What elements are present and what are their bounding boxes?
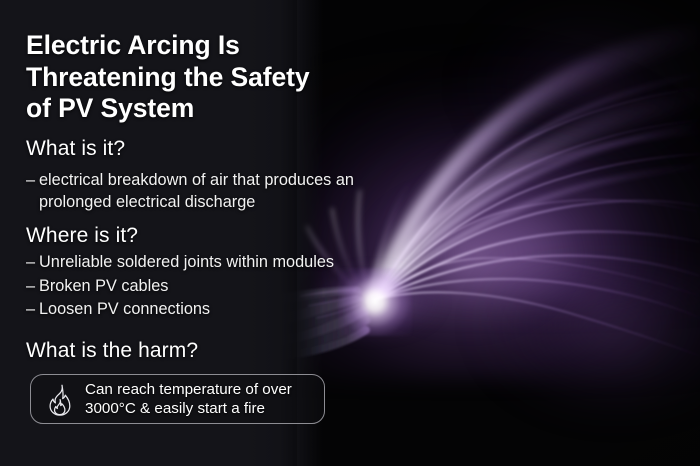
section-body-where-is-it: – Unreliable soldered joints within modu…: [26, 252, 386, 323]
harm-badge-line-1: Can reach temperature of over: [85, 380, 292, 399]
page-title: Electric Arcing Is Threatening the Safet…: [26, 30, 356, 125]
list-item: – Unreliable soldered joints within modu…: [26, 252, 386, 274]
list-item-text: Unreliable soldered joints within module…: [39, 252, 386, 274]
harm-badge-text: Can reach temperature of over 3000°C & e…: [85, 380, 292, 419]
title-line-3: of PV System: [26, 93, 356, 125]
list-item: – electrical breakdown of air that produ…: [26, 170, 386, 213]
list-item: – Loosen PV connections: [26, 299, 386, 321]
title-line-1: Electric Arcing Is: [26, 30, 356, 62]
slide-root: Electric Arcing Is Threatening the Safet…: [0, 0, 700, 466]
bullet-marker: –: [26, 299, 39, 321]
section-heading-where-is-it: Where is it?: [26, 224, 138, 248]
list-item-line-1: electrical breakdown of air that produce…: [39, 171, 331, 189]
list-item-text: Loosen PV connections: [39, 299, 386, 321]
harm-badge-line-2: 3000°C & easily start a fire: [85, 399, 292, 418]
bullet-marker: –: [26, 252, 39, 274]
bullet-marker: –: [26, 170, 39, 192]
list-item: – Broken PV cables: [26, 276, 386, 298]
slide-content: Electric Arcing Is Threatening the Safet…: [0, 0, 700, 466]
section-heading-what-is-the-harm: What is the harm?: [26, 339, 198, 363]
bullet-marker: –: [26, 276, 39, 298]
section-heading-what-is-it: What is it?: [26, 137, 125, 161]
list-item-text: electrical breakdown of air that produce…: [39, 170, 386, 213]
list-item-text: Broken PV cables: [39, 276, 386, 298]
section-body-what-is-it: – electrical breakdown of air that produ…: [26, 170, 386, 215]
harm-badge: Can reach temperature of over 3000°C & e…: [30, 374, 325, 424]
flame-icon: [43, 382, 77, 416]
title-line-2: Threatening the Safety: [26, 62, 356, 94]
